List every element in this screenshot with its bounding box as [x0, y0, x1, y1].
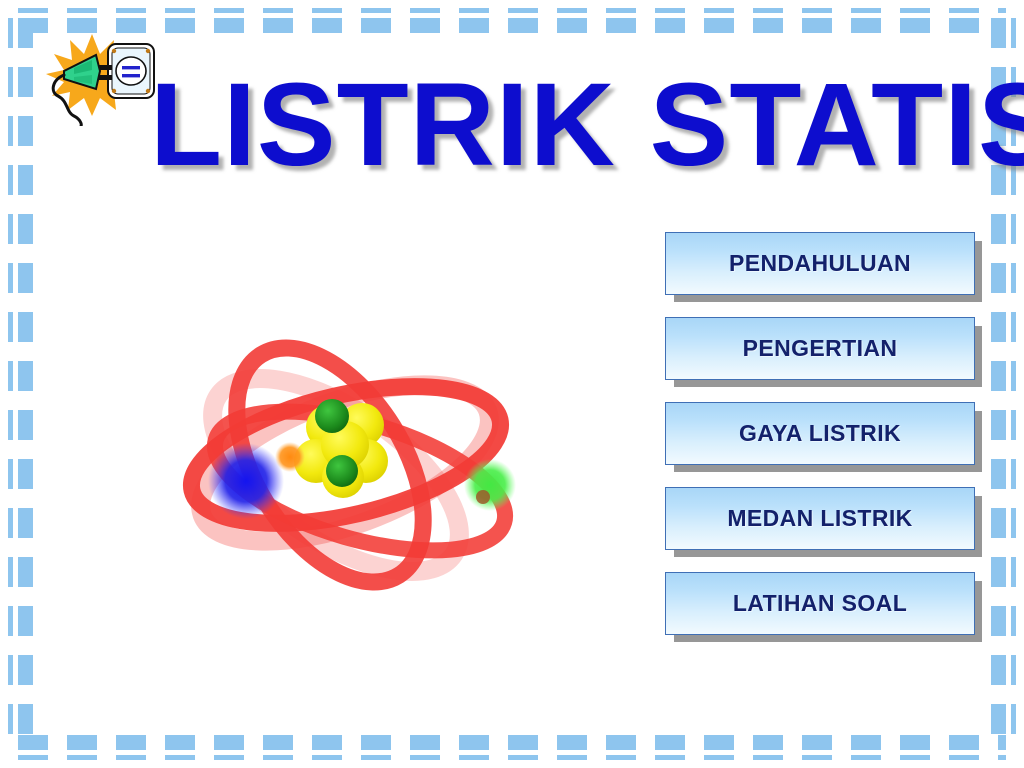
- presentation-slide: LISTRIK STATIS: [0, 0, 1024, 768]
- menu-button-label: PENGERTIAN: [743, 335, 898, 362]
- frame-dash-top-inner: [18, 18, 1006, 33]
- menu-button-medan-listrik[interactable]: MEDAN LISTRIK: [665, 487, 975, 550]
- page-title: LISTRIK STATIS: [150, 66, 1024, 184]
- frame-dash-left-inner: [18, 18, 33, 750]
- menu-button-latihan-soal[interactable]: LATIHAN SOAL: [665, 572, 975, 635]
- frame-dash-left-outer: [8, 18, 13, 750]
- menu-button-gaya-listrik[interactable]: GAYA LISTRIK: [665, 402, 975, 465]
- navigation-menu: PENDAHULUAN PENGERTIAN GAYA LISTRIK MEDA…: [665, 232, 983, 657]
- menu-button-pendahuluan[interactable]: PENDAHULUAN: [665, 232, 975, 295]
- menu-button-label: GAYA LISTRIK: [739, 420, 901, 447]
- menu-button-label: LATIHAN SOAL: [733, 590, 907, 617]
- menu-button-label: PENDAHULUAN: [729, 250, 911, 277]
- atom-illustration: [150, 285, 540, 620]
- menu-button-label: MEDAN LISTRIK: [727, 505, 912, 532]
- frame-dash-top-outer: [18, 8, 1006, 13]
- frame-dash-bottom-outer: [18, 755, 1006, 760]
- frame-dash-bottom-inner: [18, 735, 1006, 750]
- menu-button-pengertian[interactable]: PENGERTIAN: [665, 317, 975, 380]
- electric-plug-outlet-icon: [30, 30, 162, 126]
